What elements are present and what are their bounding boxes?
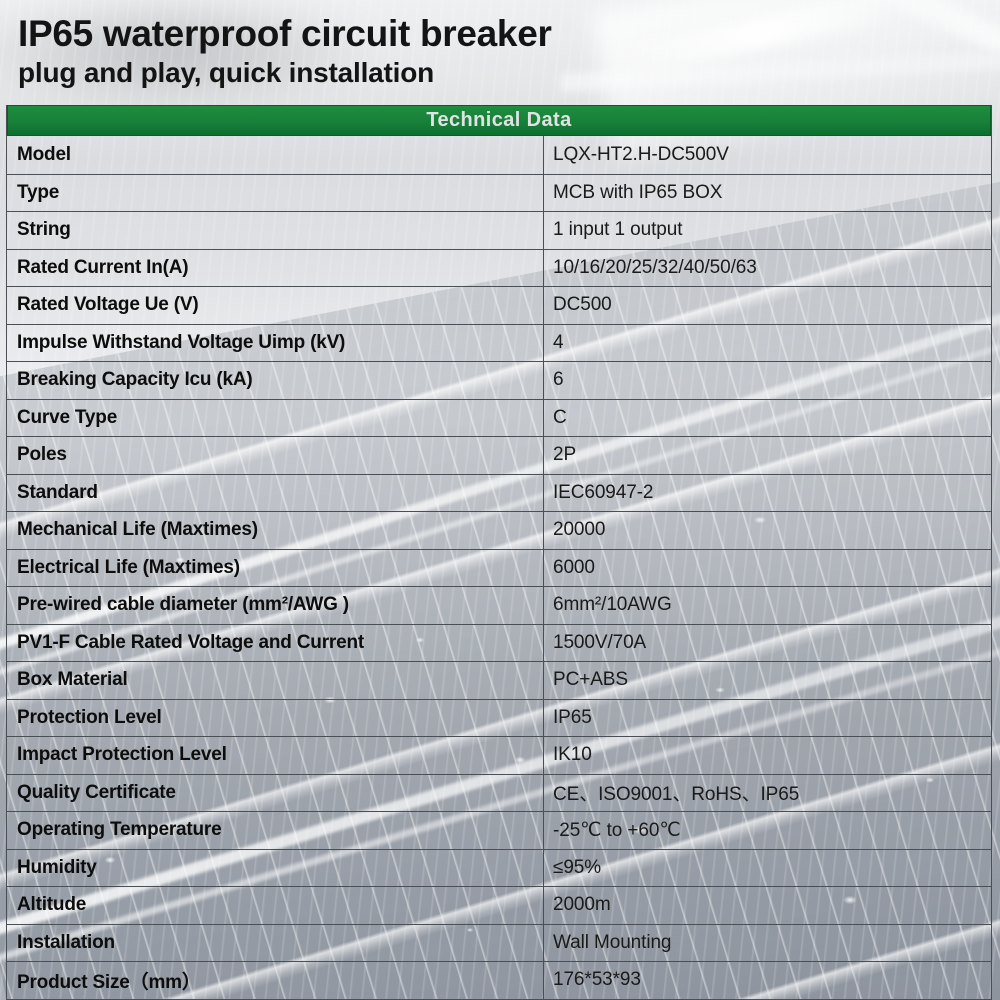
spec-label-cell: Installation	[7, 925, 544, 962]
spec-label-cell: Type	[7, 175, 544, 212]
spec-label-cell: String	[7, 212, 544, 249]
table-row: Product Size（mm）176*53*93	[7, 961, 991, 999]
spec-label-cell: Rated Current In(A)	[7, 250, 544, 287]
spec-value-cell: Wall Mounting	[544, 925, 991, 962]
spec-value-cell: 2P	[544, 437, 991, 474]
spec-label-cell: Standard	[7, 475, 544, 512]
spec-label-cell: Curve Type	[7, 400, 544, 437]
table-row: InstallationWall Mounting	[7, 924, 991, 962]
spec-label-cell: Pre-wired cable diameter (mm²/AWG )	[7, 587, 544, 624]
spec-value-cell: 4	[544, 325, 991, 362]
spec-value-cell: -25℃ to +60℃	[544, 812, 991, 849]
spec-label-cell: Poles	[7, 437, 544, 474]
spec-value-cell: 1500V/70A	[544, 625, 991, 662]
table-row: Impact Protection LevelIK10	[7, 736, 991, 774]
product-spec-banner: IP65 waterproof circuit breaker plug and…	[0, 0, 1000, 1000]
table-row: String1 input 1 output	[7, 211, 991, 249]
spec-value-cell: DC500	[544, 287, 991, 324]
spec-label-cell: PV1-F Cable Rated Voltage and Current	[7, 625, 544, 662]
table-row: StandardIEC60947-2	[7, 474, 991, 512]
table-caption-bar: Technical Data	[7, 105, 991, 136]
spec-label-cell: Breaking Capacity Icu (kA)	[7, 362, 544, 399]
spec-value-cell: PC+ABS	[544, 662, 991, 699]
table-row: Protection LevelIP65	[7, 699, 991, 737]
spec-label-cell: Impact Protection Level	[7, 737, 544, 774]
spec-value-cell: 10/16/20/25/32/40/50/63	[544, 250, 991, 287]
spec-value-cell: IEC60947-2	[544, 475, 991, 512]
spec-label-cell: Rated Voltage Ue (V)	[7, 287, 544, 324]
spec-label-cell: Altitude	[7, 887, 544, 924]
table-body: ModelLQX-HT2.H-DC500VTypeMCB with IP65 B…	[7, 136, 991, 999]
table-row: PV1-F Cable Rated Voltage and Current150…	[7, 624, 991, 662]
spec-label-cell: Box Material	[7, 662, 544, 699]
table-row: Breaking Capacity Icu (kA)6	[7, 361, 991, 399]
table-caption-text: Technical Data	[426, 109, 571, 132]
header-block: IP65 waterproof circuit breaker plug and…	[18, 14, 552, 89]
table-row: Pre-wired cable diameter (mm²/AWG )6mm²/…	[7, 586, 991, 624]
table-row: Impulse Withstand Voltage Uimp (kV)4	[7, 324, 991, 362]
spec-label-cell: Mechanical Life (Maxtimes)	[7, 512, 544, 549]
table-row: Operating Temperature-25℃ to +60℃	[7, 811, 991, 849]
spec-value-cell: ≤95%	[544, 850, 991, 887]
spec-value-cell: LQX-HT2.H-DC500V	[544, 136, 991, 174]
table-row: Electrical Life (Maxtimes)6000	[7, 549, 991, 587]
spec-value-cell: 6	[544, 362, 991, 399]
table-row: TypeMCB with IP65 BOX	[7, 174, 991, 212]
table-row: Rated Voltage Ue (V)DC500	[7, 286, 991, 324]
page-subtitle: plug and play, quick installation	[18, 57, 552, 89]
spec-value-cell: 176*53*93	[544, 962, 991, 999]
table-row: Box MaterialPC+ABS	[7, 661, 991, 699]
spec-value-cell: 6mm²/10AWG	[544, 587, 991, 624]
spec-value-cell: C	[544, 400, 991, 437]
spec-value-cell: CE、ISO9001、RoHS、IP65	[544, 775, 991, 812]
spec-value-cell: IK10	[544, 737, 991, 774]
spec-label-cell: Product Size（mm）	[7, 962, 544, 999]
spec-value-cell: 2000m	[544, 887, 991, 924]
spec-label-cell: Humidity	[7, 850, 544, 887]
technical-data-table: Technical Data ModelLQX-HT2.H-DC500VType…	[6, 105, 992, 1000]
table-row: Altitude2000m	[7, 886, 991, 924]
spec-value-cell: 6000	[544, 550, 991, 587]
spec-label-cell: Operating Temperature	[7, 812, 544, 849]
spec-label-cell: Impulse Withstand Voltage Uimp (kV)	[7, 325, 544, 362]
spec-value-cell: 1 input 1 output	[544, 212, 991, 249]
table-row: Curve TypeC	[7, 399, 991, 437]
spec-value-cell: MCB with IP65 BOX	[544, 175, 991, 212]
table-row: Rated Current In(A)10/16/20/25/32/40/50/…	[7, 249, 991, 287]
spec-label-cell: Quality Certificate	[7, 775, 544, 812]
table-row: Humidity≤95%	[7, 849, 991, 887]
spec-value-cell: IP65	[544, 700, 991, 737]
page-title: IP65 waterproof circuit breaker	[18, 14, 552, 54]
table-row: Quality CertificateCE、ISO9001、RoHS、IP65	[7, 774, 991, 812]
table-row: Poles2P	[7, 436, 991, 474]
spec-label-cell: Model	[7, 136, 544, 174]
spec-value-cell: 20000	[544, 512, 991, 549]
spec-label-cell: Electrical Life (Maxtimes)	[7, 550, 544, 587]
table-row: Mechanical Life (Maxtimes)20000	[7, 511, 991, 549]
table-row: ModelLQX-HT2.H-DC500V	[7, 136, 991, 174]
spec-label-cell: Protection Level	[7, 700, 544, 737]
